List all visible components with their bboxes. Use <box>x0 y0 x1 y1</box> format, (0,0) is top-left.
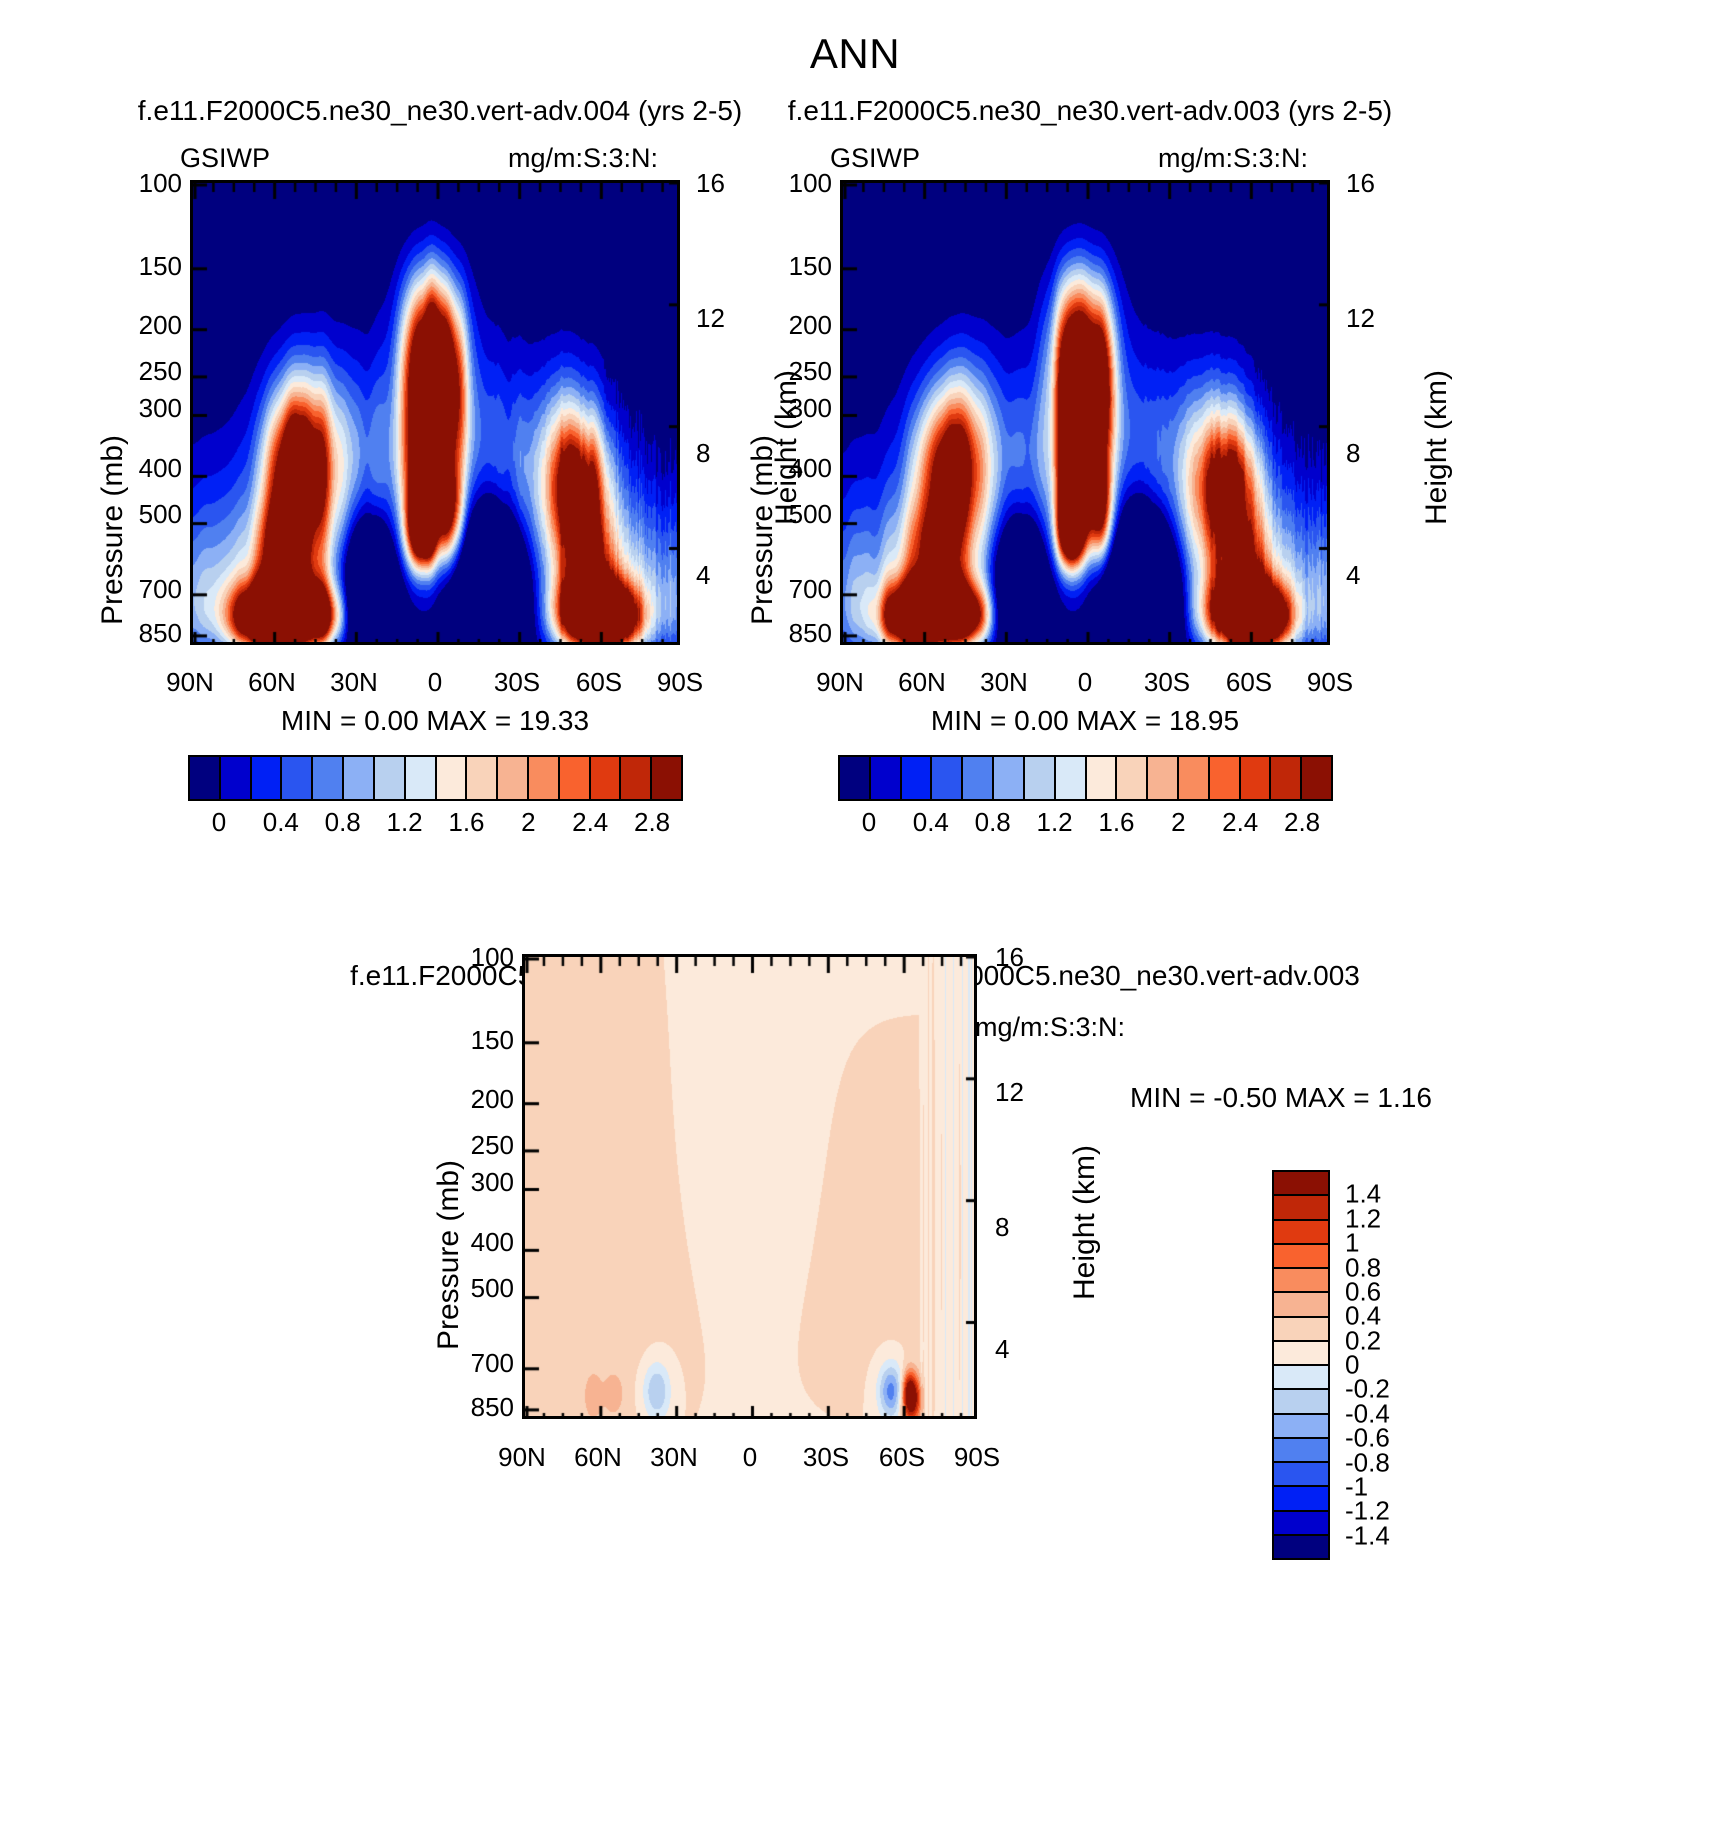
xtick-60N: 60N <box>232 667 312 698</box>
ytick-h8: 8 <box>995 1212 1055 1243</box>
colorbar-cell <box>1274 1439 1328 1463</box>
colorbar-tick-label: 1.6 <box>1098 807 1134 838</box>
colorbar-cell <box>221 757 252 799</box>
figure-title: ANN <box>0 30 1710 78</box>
ytick-100: 100 <box>450 942 514 973</box>
ytick-700: 700 <box>118 574 182 605</box>
colorbar-cell <box>1274 1512 1328 1536</box>
ytick-h4: 4 <box>1346 560 1406 591</box>
colorbar-tick-label: 1.6 <box>448 807 484 838</box>
colorbar-cell <box>1274 1245 1328 1269</box>
panel-top-right-minmax: MIN = 0.00 MAX = 18.95 <box>840 705 1330 737</box>
xtick-30N: 30N <box>964 667 1044 698</box>
colorbar-cell <box>621 757 652 799</box>
panel-top-right: f.e11.F2000C5.ne30_ne30.vert-adv.003 (yr… <box>710 95 1470 965</box>
ytick-h8: 8 <box>1346 438 1406 469</box>
ytick-200: 200 <box>768 310 832 341</box>
xtick-60N: 60N <box>558 1442 638 1473</box>
colorbar-cell <box>406 757 437 799</box>
xtick-60S: 60S <box>559 667 639 698</box>
colorbar-cell <box>1274 1536 1328 1558</box>
xtick-60N: 60N <box>882 667 962 698</box>
colorbar-top-right <box>838 755 1333 801</box>
ytick-150: 150 <box>768 251 832 282</box>
colorbar-tick-label: 1.2 <box>386 807 422 838</box>
colorbar-cell <box>1025 757 1056 799</box>
colorbar-top-left-labels: 00.40.81.21.622.42.8 <box>188 803 683 837</box>
xtick-90S: 90S <box>1290 667 1370 698</box>
colorbar-cell <box>932 757 963 799</box>
ytick-100: 100 <box>118 168 182 199</box>
ytick-h16: 16 <box>1346 168 1406 199</box>
ytick-h16: 16 <box>995 942 1055 973</box>
colorbar-cell <box>840 757 871 799</box>
colorbar-cell <box>252 757 283 799</box>
colorbar-cell <box>313 757 344 799</box>
xtick-90S: 90S <box>640 667 720 698</box>
ytick-400: 400 <box>450 1227 514 1258</box>
ytick-h12: 12 <box>1346 303 1406 334</box>
ytick-400: 400 <box>768 453 832 484</box>
colorbar-cell <box>1274 1415 1328 1439</box>
colorbar-cell <box>1241 757 1272 799</box>
panel-difference-units-label: mg/m:S:3:N: <box>975 1012 1125 1043</box>
colorbar-difference <box>1272 1170 1330 1560</box>
colorbar-cell <box>1117 757 1148 799</box>
colorbar-cell <box>1179 757 1210 799</box>
xtick-90S: 90S <box>937 1442 1017 1473</box>
colorbar-cell <box>1274 1487 1328 1511</box>
ytick-850: 850 <box>118 618 182 649</box>
colorbar-tick-label: 0.8 <box>975 807 1011 838</box>
xtick-30S: 30S <box>1127 667 1207 698</box>
panel-top-right-units-label: mg/m:S:3:N: <box>1158 143 1308 174</box>
colorbar-cell <box>591 757 622 799</box>
colorbar-tick-label: 1.2 <box>1036 807 1072 838</box>
colorbar-tick-label: 2.4 <box>1222 807 1258 838</box>
panel-difference-minmax: MIN = -0.50 MAX = 1.16 <box>1130 1082 1560 1114</box>
ytick-150: 150 <box>450 1025 514 1056</box>
panel-top-right-plot-area <box>840 180 1330 645</box>
colorbar-tick-label: 0 <box>862 807 876 838</box>
xtick-30S: 30S <box>477 667 557 698</box>
xtick-30S: 30S <box>786 1442 866 1473</box>
ytick-500: 500 <box>450 1273 514 1304</box>
colorbar-cell <box>560 757 591 799</box>
colorbar-cell <box>467 757 498 799</box>
ytick-300: 300 <box>118 393 182 424</box>
panel-top-left-plot-area <box>190 180 680 645</box>
colorbar-cell <box>1087 757 1118 799</box>
colorbar-tick-label: 2 <box>1171 807 1185 838</box>
ytick-200: 200 <box>450 1084 514 1115</box>
xtick-60S: 60S <box>862 1442 942 1473</box>
xtick-90N: 90N <box>482 1442 562 1473</box>
ytick-250: 250 <box>768 356 832 387</box>
colorbar-top-left <box>188 755 683 801</box>
colorbar-cell <box>1148 757 1179 799</box>
colorbar-cell <box>1274 1318 1328 1342</box>
ytick-700: 700 <box>450 1348 514 1379</box>
colorbar-cell <box>871 757 902 799</box>
colorbar-top-right-labels: 00.40.81.21.622.42.8 <box>838 803 1333 837</box>
colorbar-cell <box>498 757 529 799</box>
ytick-250: 250 <box>118 356 182 387</box>
colorbar-tick-label: 0.4 <box>913 807 949 838</box>
panel-top-right-title: f.e11.F2000C5.ne30_ne30.vert-adv.003 (yr… <box>710 95 1470 127</box>
contour-field-top-right <box>843 183 1330 645</box>
colorbar-cell <box>282 757 313 799</box>
ytick-400: 400 <box>118 453 182 484</box>
colorbar-cell <box>1302 757 1331 799</box>
xtick-0: 0 <box>1045 667 1125 698</box>
colorbar-cell <box>529 757 560 799</box>
colorbar-cell <box>190 757 221 799</box>
contour-field-top-left <box>193 183 680 645</box>
xtick-0: 0 <box>710 1442 790 1473</box>
panel-top-left-variable-label: GSIWP <box>180 143 270 174</box>
colorbar-cell <box>1274 1269 1328 1293</box>
ytick-h12: 12 <box>995 1077 1055 1108</box>
ytick-500: 500 <box>768 499 832 530</box>
panel-top-left-units-label: mg/m:S:3:N: <box>508 143 658 174</box>
colorbar-cell <box>902 757 933 799</box>
colorbar-cell <box>1274 1172 1328 1196</box>
colorbar-tick-label: 0.8 <box>325 807 361 838</box>
ytick-700: 700 <box>768 574 832 605</box>
colorbar-tick-label: 2.8 <box>1284 807 1320 838</box>
panel-difference: f.e11.F2000C5.ne30_ne30.vert-adv.004 - f… <box>0 960 1710 1700</box>
colorbar-difference-labels: 1.41.210.80.60.40.20-0.2-0.4-0.6-0.8-1-1… <box>1345 1170 1485 1560</box>
ytick-100: 100 <box>768 168 832 199</box>
colorbar-tick-label: 2.4 <box>572 807 608 838</box>
xtick-30N: 30N <box>634 1442 714 1473</box>
colorbar-tick-label: 0.4 <box>263 807 299 838</box>
colorbar-cell <box>1274 1293 1328 1317</box>
colorbar-cell <box>344 757 375 799</box>
ytick-250: 250 <box>450 1130 514 1161</box>
ytick-150: 150 <box>118 251 182 282</box>
xtick-30N: 30N <box>314 667 394 698</box>
panel-top-right-variable-label: GSIWP <box>830 143 920 174</box>
colorbar-cell <box>1274 1342 1328 1366</box>
panel-top-left-title: f.e11.F2000C5.ne30_ne30.vert-adv.004 (yr… <box>60 95 820 127</box>
colorbar-cell <box>375 757 406 799</box>
colorbar-cell <box>1274 1366 1328 1390</box>
panel-difference-plot-area <box>522 954 977 1419</box>
colorbar-cell <box>437 757 468 799</box>
colorbar-cell <box>652 757 681 799</box>
ytick-300: 300 <box>450 1167 514 1198</box>
colorbar-cell <box>1274 1463 1328 1487</box>
contour-field-difference <box>525 957 977 1419</box>
colorbar-cell <box>1274 1221 1328 1245</box>
xtick-60S: 60S <box>1209 667 1289 698</box>
ytick-200: 200 <box>118 310 182 341</box>
xtick-90N: 90N <box>150 667 230 698</box>
ytick-h4: 4 <box>995 1334 1055 1365</box>
colorbar-tick-label: 2.8 <box>634 807 670 838</box>
colorbar-cell <box>963 757 994 799</box>
colorbar-cell <box>1271 757 1302 799</box>
panel-top-left: f.e11.F2000C5.ne30_ne30.vert-adv.004 (yr… <box>60 95 820 965</box>
colorbar-cell <box>1274 1196 1328 1220</box>
xtick-90N: 90N <box>800 667 880 698</box>
colorbar-cell <box>1056 757 1087 799</box>
panel-top-left-minmax: MIN = 0.00 MAX = 19.33 <box>190 705 680 737</box>
ytick-850: 850 <box>450 1392 514 1423</box>
colorbar-cell <box>1210 757 1241 799</box>
colorbar-cell <box>1274 1390 1328 1414</box>
ytick-300: 300 <box>768 393 832 424</box>
colorbar-tick-label: 0 <box>212 807 226 838</box>
ytick-500: 500 <box>118 499 182 530</box>
colorbar-tick-label: -1.4 <box>1345 1520 1390 1551</box>
colorbar-cell <box>994 757 1025 799</box>
colorbar-tick-label: 2 <box>521 807 535 838</box>
ytick-850: 850 <box>768 618 832 649</box>
panel-difference-y2-axis-title: Height (km) <box>1068 1145 1102 1300</box>
panel-top-right-y2-axis-title: Height (km) <box>1420 370 1454 525</box>
xtick-0: 0 <box>395 667 475 698</box>
